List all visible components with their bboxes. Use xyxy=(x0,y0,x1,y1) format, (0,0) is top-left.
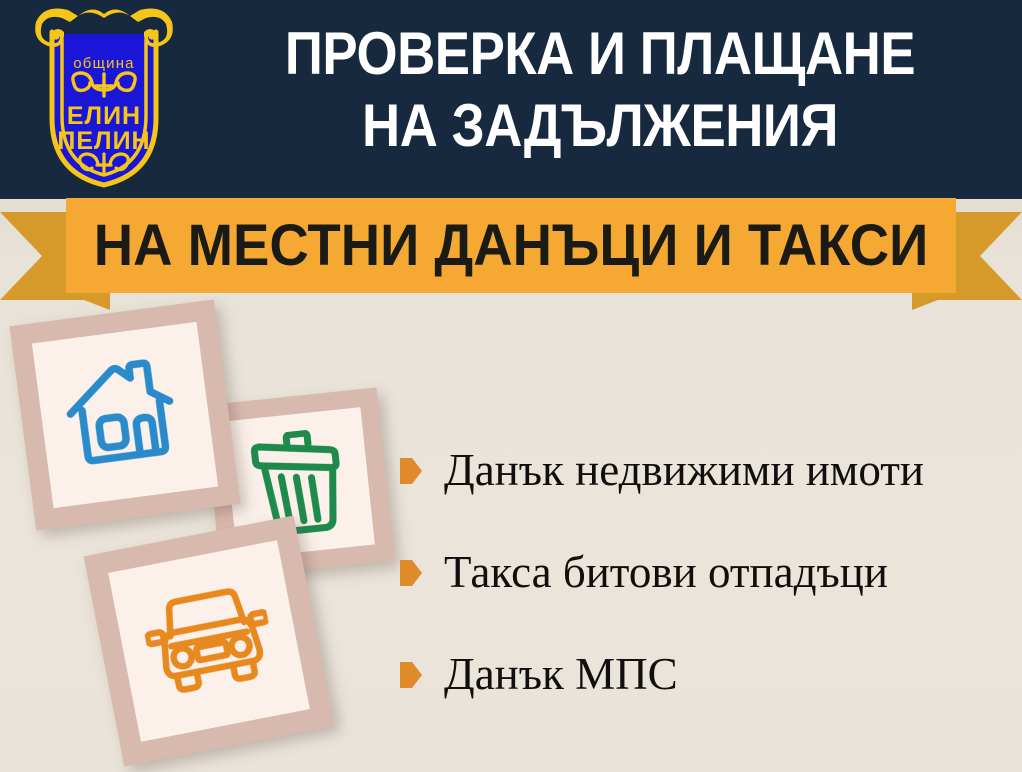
tax-type-list: Данък недвижими имоти Такса битови отпад… xyxy=(400,420,1012,726)
list-item-label: Данък недвижими имоти xyxy=(444,447,924,494)
stamp-paper xyxy=(32,322,218,508)
coat-of-arms-shield-icon: община ЕЛИН ПЕЛИН xyxy=(18,6,190,192)
svg-text:ЕЛИН: ЕЛИН xyxy=(67,102,141,130)
ribbon-main-panel: НА МЕСТНИ ДАНЪЦИ И ТАКСИ xyxy=(66,198,956,293)
bullet-arrow-icon xyxy=(400,560,422,586)
title-line-1: ПРОВЕРКА И ПЛАЩАНЕ xyxy=(244,18,955,90)
stamp-card-car xyxy=(84,516,335,767)
ribbon-fold-left xyxy=(66,293,110,310)
ribbon-label: НА МЕСТНИ ДАНЪЦИ И ТАКСИ xyxy=(93,198,930,293)
svg-text:ПЕЛИН: ПЕЛИН xyxy=(57,127,150,155)
ribbon-fold-right xyxy=(912,293,956,310)
title-line-2: НА ЗАДЪЛЖЕНИЯ xyxy=(244,90,955,162)
list-item-label: Такса битови отпадъци xyxy=(444,549,888,596)
stamp-card-house xyxy=(9,299,240,530)
house-icon xyxy=(58,352,192,479)
bullet-arrow-icon xyxy=(400,662,422,688)
list-item[interactable]: Такса битови отпадъци xyxy=(400,522,1012,624)
svg-text:община: община xyxy=(73,55,134,72)
list-item-label: Данък МПС xyxy=(444,651,678,698)
list-item[interactable]: Данък недвижими имоти xyxy=(400,420,1012,522)
page-title: ПРОВЕРКА И ПЛАЩАНЕ НА ЗАДЪЛЖЕНИЯ xyxy=(196,18,1004,162)
list-item[interactable]: Данък МПС xyxy=(400,624,1012,726)
stamp-paper xyxy=(108,540,310,742)
bullet-arrow-icon xyxy=(400,458,422,484)
car-icon xyxy=(139,580,280,702)
ribbon-banner: НА МЕСТНИ ДАНЪЦИ И ТАКСИ xyxy=(0,198,1022,308)
poster-canvas: община ЕЛИН ПЕЛИН xyxy=(0,0,1022,772)
